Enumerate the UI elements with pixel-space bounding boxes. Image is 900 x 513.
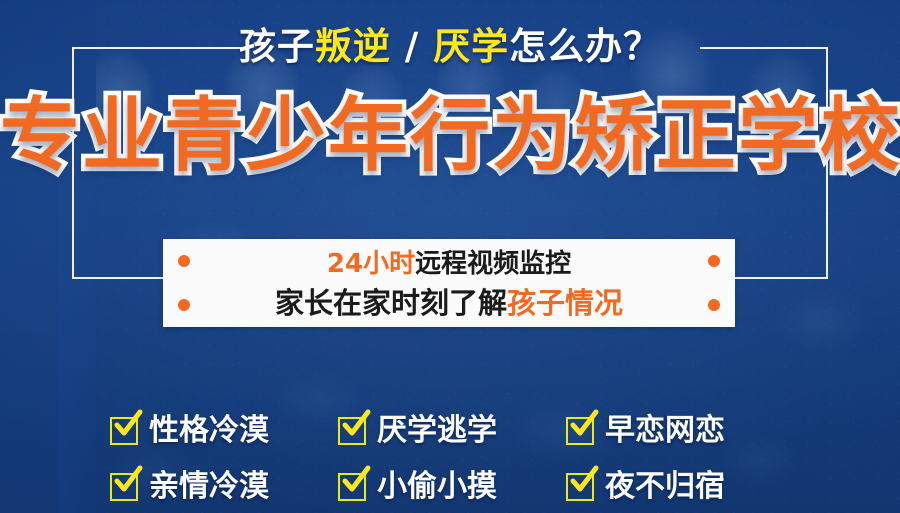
promo-banner: 孩子叛逆 / 厌学怎么办？ 专业青少年行为矫正学校 24小时远程视频监控 家长在… <box>0 0 900 513</box>
symptom-checklist: 性格冷漠 厌学逃学 早恋网恋 亲情冷漠 <box>110 403 810 513</box>
checklist-item-6-label: 夜不归宿 <box>605 472 725 502</box>
info-panel-line-1-accent: 24小时 <box>327 249 415 279</box>
info-panel: 24小时远程视频监控 家长在家时刻了解孩子情况 <box>163 239 735 327</box>
checklist-item-1[interactable]: 性格冷漠 <box>110 416 338 446</box>
checklist-item-4-label: 亲情冷漠 <box>149 472 269 502</box>
checklist-item-3[interactable]: 早恋网恋 <box>566 416 794 446</box>
checklist-item-4[interactable]: 亲情冷漠 <box>110 472 338 502</box>
info-panel-line-1-rest: 远程视频监控 <box>415 249 571 279</box>
info-panel-line-2-rest: 家长在家时刻了解 <box>275 286 507 320</box>
headline-part-3: / <box>391 25 433 68</box>
checkbox-checked-icon[interactable] <box>566 417 594 445</box>
headline: 孩子叛逆 / 厌学怎么办？ <box>0 28 900 65</box>
checklist-item-5-label: 小偷小摸 <box>377 472 497 502</box>
info-panel-line-2-accent: 孩子情况 <box>507 286 623 320</box>
headline-part-5: 怎么办？ <box>509 25 661 68</box>
checkbox-checked-icon[interactable] <box>110 473 138 501</box>
info-panel-line-2: 家长在家时刻了解孩子情况 <box>163 289 735 318</box>
checklist-row-1: 性格冷漠 厌学逃学 早恋网恋 <box>110 403 810 459</box>
checkbox-checked-icon[interactable] <box>338 473 366 501</box>
checklist-item-2[interactable]: 厌学逃学 <box>338 416 566 446</box>
main-title: 专业青少年行为矫正学校 <box>0 96 900 176</box>
checklist-item-3-label: 早恋网恋 <box>605 416 725 446</box>
checklist-item-2-label: 厌学逃学 <box>377 416 497 446</box>
checkbox-checked-icon[interactable] <box>566 473 594 501</box>
checkbox-checked-icon[interactable] <box>110 417 138 445</box>
headline-part-1: 孩子 <box>239 25 315 68</box>
info-panel-line-1: 24小时远程视频监控 <box>163 251 735 277</box>
headline-part-2: 叛逆 <box>315 25 391 68</box>
headline-part-4: 厌学 <box>433 25 509 68</box>
checklist-row-2: 亲情冷漠 小偷小摸 夜不归宿 <box>110 459 810 513</box>
checkbox-checked-icon[interactable] <box>338 417 366 445</box>
checklist-item-6[interactable]: 夜不归宿 <box>566 472 794 502</box>
checklist-item-5[interactable]: 小偷小摸 <box>338 472 566 502</box>
checklist-item-1-label: 性格冷漠 <box>149 416 269 446</box>
